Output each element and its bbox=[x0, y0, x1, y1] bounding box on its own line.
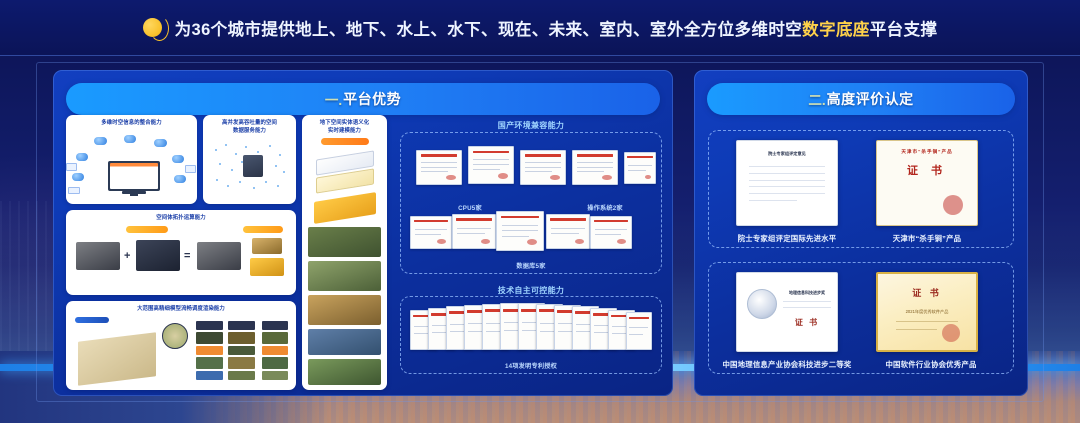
certificate-caption-2a: 中国地理信息产业协会科技进步二等奖 bbox=[712, 359, 862, 370]
card1-caption: 多维时空信息的整合能力 bbox=[70, 120, 193, 128]
section-header-left: 一.平台优势 bbox=[66, 83, 660, 115]
certificate-academician-review[interactable]: 院士专家组评定意见 bbox=[736, 140, 838, 226]
card-spatial-topology[interactable]: 空间体拓扑运算能力 + = bbox=[66, 210, 296, 295]
section-title-left: 平台优势 bbox=[343, 89, 401, 109]
certificate-gis-award[interactable]: 地理信息科技进步奖 证 书 bbox=[736, 272, 838, 352]
group1-sublabel-os: 操作系统2家 bbox=[560, 203, 650, 212]
card-large-scale-rendering[interactable]: 大范围高精细模型流畅调度渲染能力 bbox=[66, 301, 296, 390]
cert-award-title: 证 书 bbox=[783, 317, 831, 328]
card5-caption: 大范围高精细模型流畅调度渲染能力 bbox=[70, 306, 292, 314]
group2-title: 技术自主可控能力 bbox=[400, 285, 662, 296]
certificate-caption-2b: 中国软件行业协会优秀产品 bbox=[866, 359, 996, 370]
group1-title: 国产环境兼容能力 bbox=[400, 120, 662, 131]
cert-gold-subtitle: 2021年度优秀软件产品 bbox=[878, 309, 976, 315]
monitor-illustration bbox=[108, 161, 160, 191]
network-diagram bbox=[66, 133, 197, 204]
header-title-highlight: 数字底座 bbox=[802, 21, 870, 39]
topology-plus-sign: + bbox=[124, 250, 130, 262]
section-number-left: 一. bbox=[325, 89, 342, 109]
server-icon bbox=[243, 155, 263, 177]
cert-red-title: 证 书 bbox=[877, 162, 977, 178]
topology-shape-d bbox=[252, 238, 282, 254]
certificate-caption-1b: 天津市“杀手锏”产品 bbox=[862, 233, 992, 244]
section-header-right: 二.高度评价认定 bbox=[707, 83, 1015, 115]
cert-red-header: 天津市“杀手锏”产品 bbox=[877, 149, 977, 155]
group1-sublabel-database: 数据库5家 bbox=[481, 261, 581, 270]
topology-equals-sign: = bbox=[184, 250, 190, 262]
certificate-tianjin-product[interactable]: 天津市“杀手锏”产品 证 书 bbox=[876, 140, 978, 226]
card3-tag-pill bbox=[321, 138, 369, 145]
topology-shape-c bbox=[197, 242, 241, 270]
card-high-concurrency-service[interactable]: 高并发高吞吐量的空间 数据服务能力 bbox=[203, 115, 296, 204]
card4-caption: 空间体拓扑运算能力 bbox=[70, 215, 292, 223]
header-title-before: 为36个城市提供地上、地下、水上、水下、现在、未来、室内、室外全方位多维时空 bbox=[175, 21, 803, 39]
group2-sublabel-patents: 14项发明专利授权 bbox=[481, 361, 581, 370]
card2-caption: 高并发高吞吐量的空间 数据服务能力 bbox=[207, 120, 292, 136]
topology-shape-b bbox=[136, 240, 180, 271]
moon-circle-icon bbox=[143, 18, 162, 37]
card-underground-modeling[interactable]: 地下空间实体语义化 实时建模能力 bbox=[302, 115, 387, 390]
certificate-software-excellence[interactable]: 证 书 2021年度优秀软件产品 bbox=[876, 272, 978, 352]
header-title: 为36个城市提供地上、地下、水上、水下、现在、未来、室内、室外全方位多维时空数字… bbox=[175, 16, 938, 40]
card3-caption: 地下空间实体语义化 实时建模能力 bbox=[306, 120, 383, 136]
topology-shape-e bbox=[250, 258, 284, 276]
header-title-after: 平台支撑 bbox=[870, 21, 938, 39]
certificate-caption-1a: 院士专家组评定国际先进水平 bbox=[722, 233, 852, 244]
card-multidimensional-integration[interactable]: 多维时空信息的整合能力 bbox=[66, 115, 197, 204]
cert-doc-heading: 院士专家组评定意见 bbox=[749, 151, 825, 157]
cert-gold-title: 证 书 bbox=[878, 286, 976, 299]
topology-shape-a bbox=[76, 242, 120, 270]
section-title-right: 高度评价认定 bbox=[827, 89, 914, 109]
medal-icon bbox=[747, 289, 777, 319]
header-banner: 为36个城市提供地上、地下、水上、水下、现在、未来、室内、室外全方位多维时空数字… bbox=[0, 0, 1080, 56]
section-number-right: 二. bbox=[808, 89, 825, 109]
